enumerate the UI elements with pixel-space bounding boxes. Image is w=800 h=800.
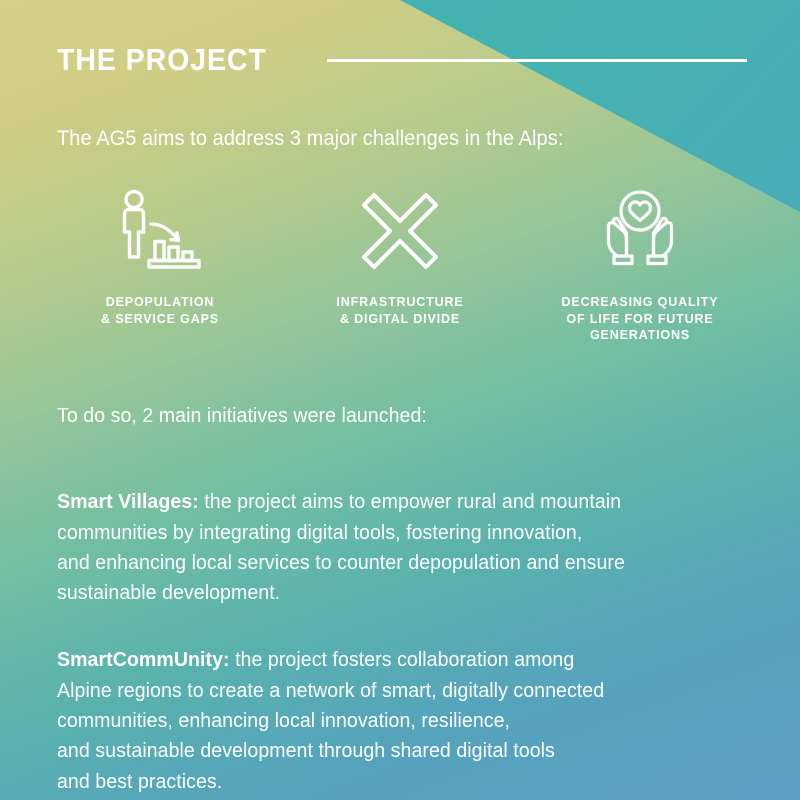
initiative-smart-villages: Smart Villages: the project aims to empo… bbox=[57, 457, 625, 609]
initiative-smartcommunity: SmartCommUnity: the project fosters coll… bbox=[57, 615, 604, 797]
initiative-name-smartcommunity: SmartCommUnity: bbox=[57, 648, 230, 671]
initiatives-lead-in: To do so, 2 main initiatives were launch… bbox=[57, 401, 427, 431]
header-rule bbox=[327, 59, 747, 62]
challenge-label-depopulation: DEPOPULATION & SERVICE GAPS bbox=[101, 294, 219, 327]
population-decline-chart-icon bbox=[117, 188, 203, 274]
header: THE PROJECT bbox=[57, 44, 747, 75]
initiative-name-smart-villages: Smart Villages: bbox=[57, 490, 199, 513]
cross-x-icon bbox=[360, 188, 440, 274]
slide-root: THE PROJECT The AG5 aims to address 3 ma… bbox=[0, 0, 800, 800]
challenge-item-infrastructure: INFRASTRUCTURE & DIGITAL DIVIDE bbox=[280, 188, 520, 327]
intro-text: The AG5 aims to address 3 major challeng… bbox=[57, 125, 563, 153]
challenge-label-infrastructure: INFRASTRUCTURE & DIGITAL DIVIDE bbox=[336, 294, 463, 327]
challenge-item-depopulation: DEPOPULATION & SERVICE GAPS bbox=[40, 188, 280, 327]
challenges-row: DEPOPULATION & SERVICE GAPS INFRASTRUCTU… bbox=[40, 188, 760, 344]
challenge-label-quality-of-life: DECREASING QUALITY OF LIFE FOR FUTURE GE… bbox=[562, 294, 719, 344]
hands-holding-heart-icon bbox=[595, 188, 685, 274]
page-title: THE PROJECT bbox=[57, 44, 267, 75]
slide-content: THE PROJECT The AG5 aims to address 3 ma… bbox=[0, 0, 800, 800]
challenge-item-quality-of-life: DECREASING QUALITY OF LIFE FOR FUTURE GE… bbox=[520, 188, 760, 344]
